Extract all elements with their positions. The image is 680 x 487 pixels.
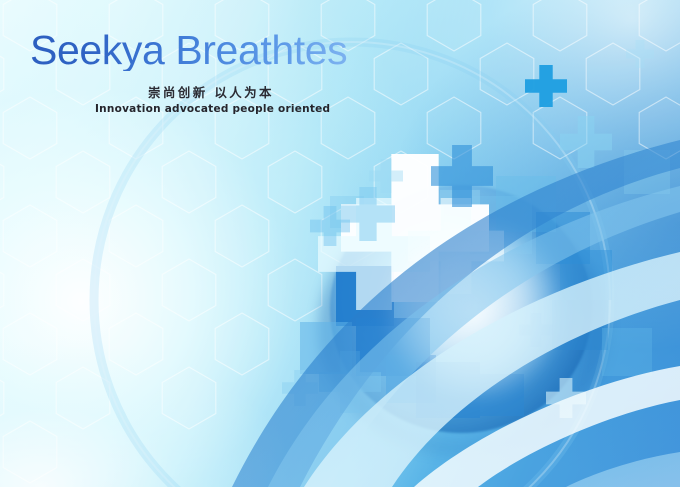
poster-canvas: Seekya Breathtes 崇尚创新 以人为本 Innovation ad…	[0, 0, 680, 487]
ribbon-swoosh-group	[0, 0, 680, 487]
ribbon-light-blue	[566, 452, 680, 487]
slogan-english: Innovation advocated people oriented	[95, 103, 330, 115]
slogan-chinese: 崇尚创新 以人为本	[148, 82, 274, 101]
page-title: Seekya Breathtes	[30, 30, 347, 71]
